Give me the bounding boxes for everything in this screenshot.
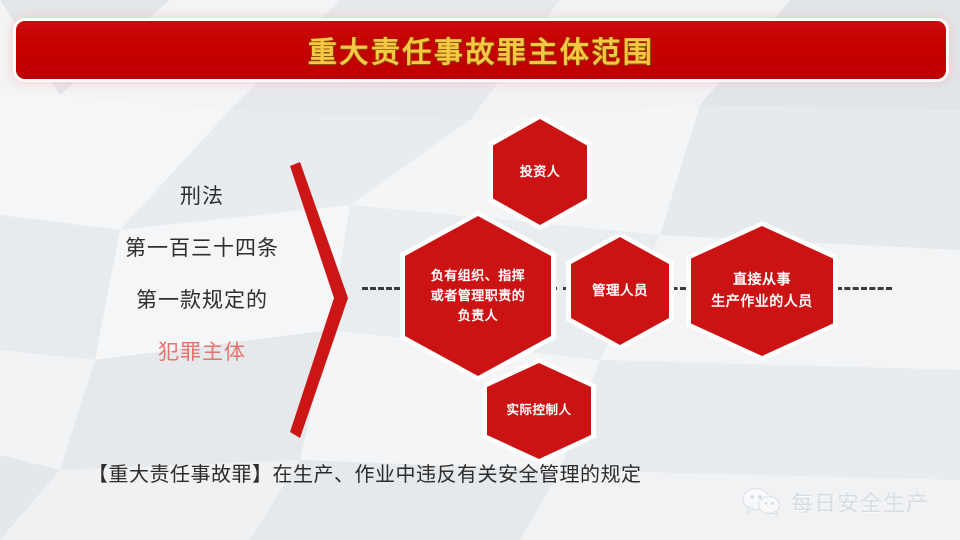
law-line-2: 第一百三十四条 (96, 238, 308, 259)
watermark-text: 每日安全生产 (791, 486, 929, 518)
hexagon-leader-line-1: 负有组织、指挥 (431, 266, 526, 286)
law-reference-column: 刑法 第一百三十四条 第一款规定的 犯罪主体 (96, 186, 308, 363)
law-line-3: 第一款规定的 (96, 290, 308, 311)
hexagon-investor-line-1: 投资人 (520, 162, 561, 182)
slide-title-bar: 重大责任事故罪主体范围 (16, 21, 946, 79)
wechat-icon (742, 487, 782, 517)
bottom-caption: 【重大责任事故罪】在生产、作业中违反有关安全管理的规定 (88, 458, 642, 487)
chevron-right-arrow-icon (286, 160, 356, 440)
law-line-4-accent: 犯罪主体 (96, 342, 308, 363)
law-line-1: 刑法 (96, 186, 308, 207)
hexagon-worker-line-1: 直接从事 (733, 269, 791, 291)
watermark: 每日安全生产 (742, 486, 929, 518)
hexagon-controller-line-1: 实际控制人 (506, 401, 571, 420)
slide-canvas: 重大责任事故罪主体范围 刑法 第一百三十四条 第一款规定的 犯罪主体 投资人 负… (0, 0, 960, 540)
page-title: 重大责任事故罪主体范围 (308, 29, 655, 71)
hexagon-leader-line-3: 负责人 (458, 306, 499, 326)
hexagon-manager-line-1: 管理人员 (592, 281, 648, 302)
hexagon-worker-line-2: 生产作业的人员 (711, 291, 813, 313)
connector-dashed-right (836, 287, 892, 290)
hexagon-leader-line-2: 或者管理职责的 (431, 286, 526, 306)
